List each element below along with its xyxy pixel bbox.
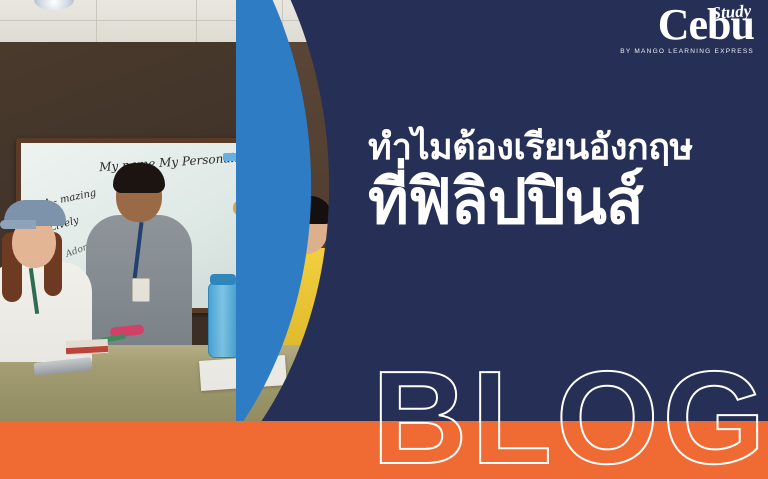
logo-tagline: BY MANGO LEARNING EXPRESS — [604, 48, 754, 56]
navy-panel-with-arc — [0, 0, 768, 479]
headline-line-2: ที่ฟิลิปปินส์ — [368, 166, 760, 238]
blog-cover-banner: My name My Personality A - mazing Lively… — [0, 0, 768, 479]
orange-footer-band — [0, 421, 768, 479]
cebu-study-logo[interactable]: Cebu Study BY MANGO LEARNING EXPRESS — [604, 4, 754, 66]
logo-study-script: Study — [711, 2, 752, 22]
headline-line-1: ทำไมต้องเรียนอังกฤษ — [368, 126, 760, 170]
logo-wordmark: Cebu Study — [604, 4, 754, 50]
headline-block: ทำไมต้องเรียนอังกฤษ ที่ฟิลิปปินส์ — [368, 126, 760, 238]
